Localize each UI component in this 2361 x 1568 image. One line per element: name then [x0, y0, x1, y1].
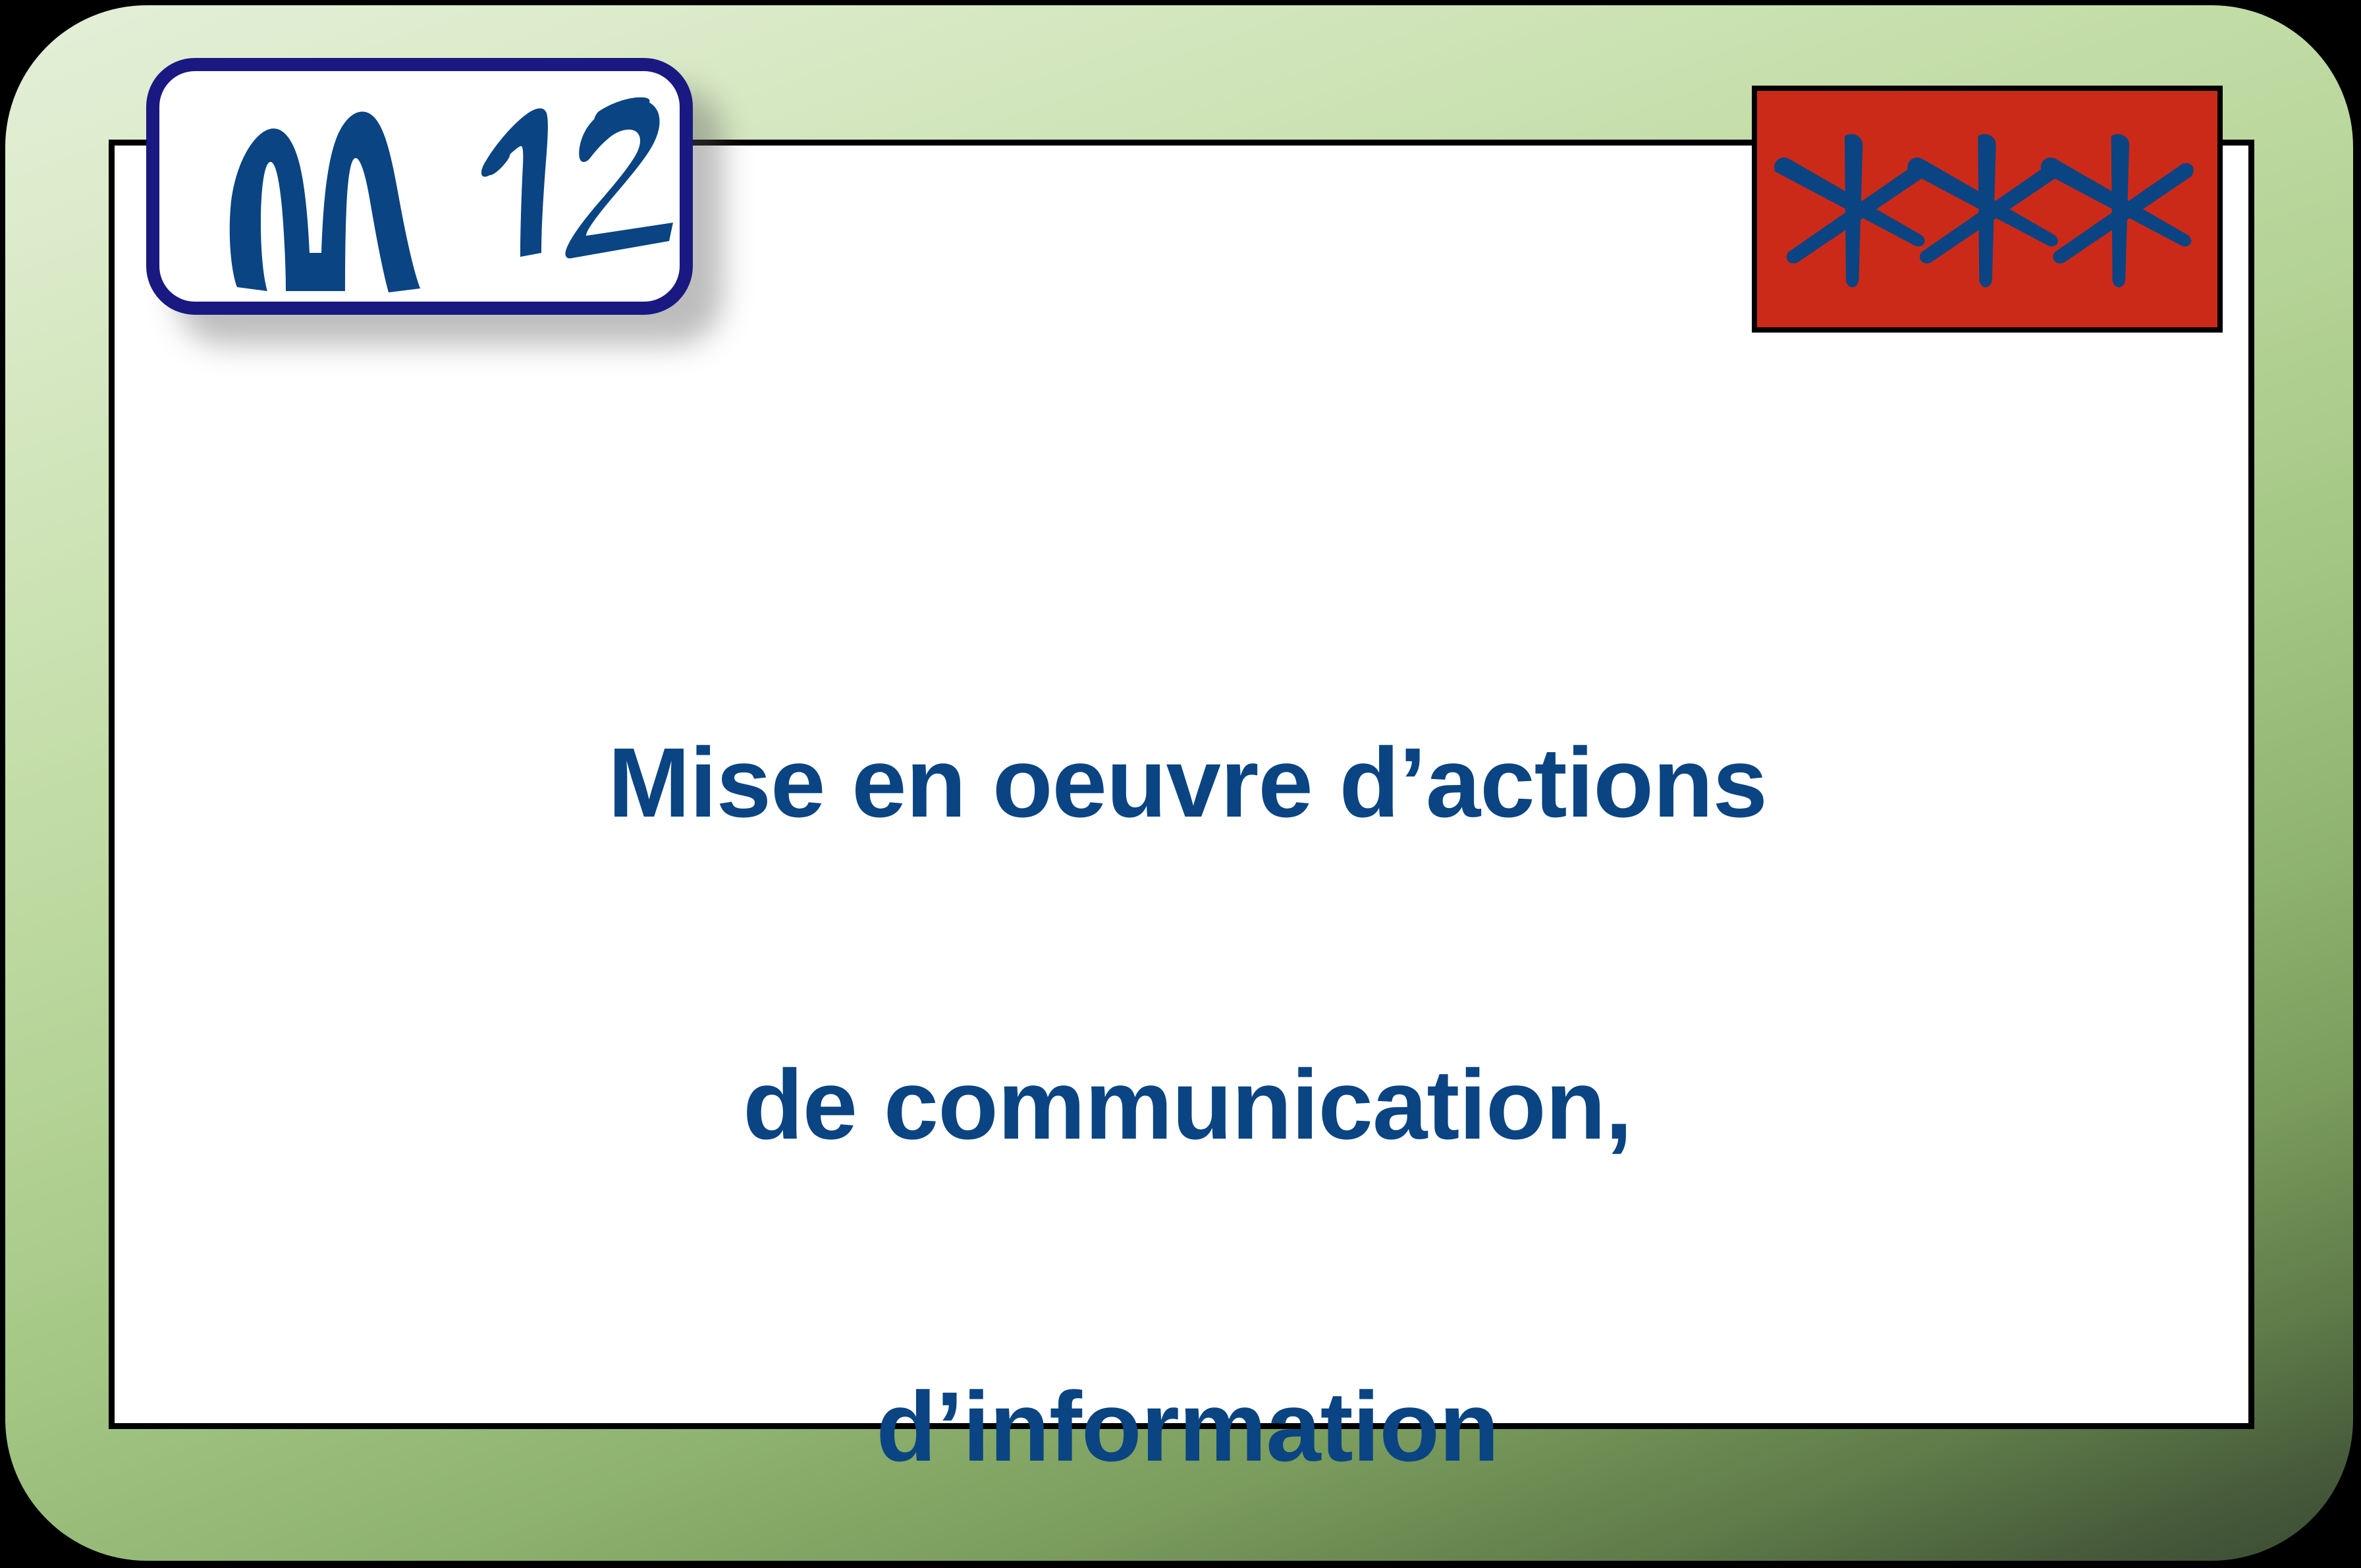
three-asterisks-icon	[1757, 91, 2217, 327]
handwritten-m-icon	[223, 76, 440, 294]
handwritten-12-icon	[443, 55, 686, 273]
page-title: Mise en oeuvre d’actions de communicatio…	[115, 514, 2260, 1568]
title-line-3: d’information	[115, 1373, 2260, 1480]
module-badge-inner	[159, 71, 680, 302]
rating-badge[interactable]	[1752, 86, 2223, 333]
title-line-2: de communication,	[115, 1051, 2260, 1158]
slide-canvas: Mise en oeuvre d’actions de communicatio…	[0, 0, 2361, 1568]
module-badge[interactable]	[146, 58, 693, 315]
inner-content-box: Mise en oeuvre d’actions de communicatio…	[109, 140, 2254, 1429]
title-line-1: Mise en oeuvre d’actions	[115, 729, 2260, 836]
